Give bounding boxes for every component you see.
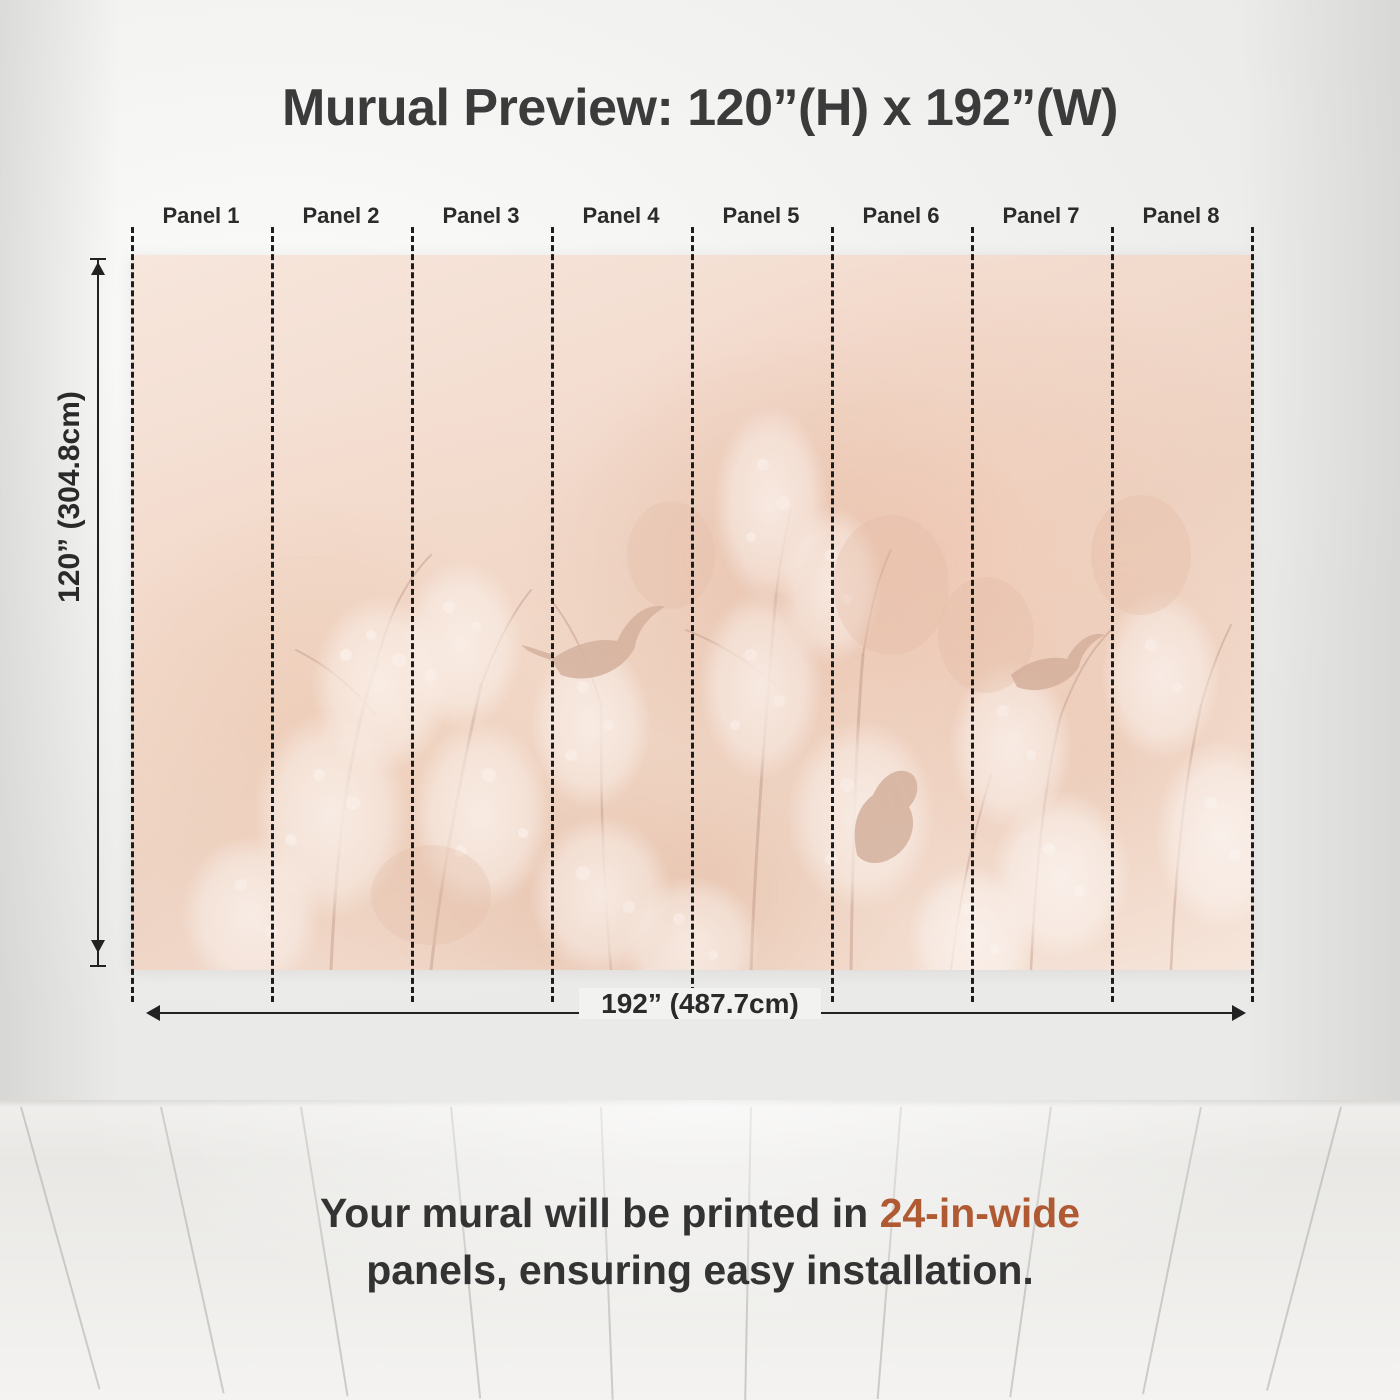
panel-label-8: Panel 8	[1111, 203, 1251, 229]
height-dimension-label: 120” (304.8cm)	[53, 367, 87, 627]
panel-divider-6	[971, 227, 974, 1002]
panel-label-3: Panel 3	[411, 203, 551, 229]
width-dimension-label: 192” (487.7cm)	[0, 988, 1400, 1020]
room-scene: Murual Preview: 120”(H) x 192”(W) 120” (…	[0, 0, 1400, 1400]
caption-line-2: panels, ensuring easy installation.	[0, 1242, 1400, 1299]
panel-label-7: Panel 7	[971, 203, 1111, 229]
panel-label-6: Panel 6	[831, 203, 971, 229]
caption-highlight: 24-in-wide	[880, 1190, 1080, 1236]
caption-line-1: Your mural will be printed in 24-in-wide	[0, 1185, 1400, 1242]
height-line	[97, 258, 99, 967]
panel-label-5: Panel 5	[691, 203, 831, 229]
height-arrow-up-icon	[91, 262, 105, 275]
panel-divider-2	[411, 227, 414, 1002]
height-arrow-down-icon	[91, 940, 105, 953]
width-dimension-text: 192” (487.7cm)	[579, 988, 821, 1019]
panel-label-1: Panel 1	[131, 203, 271, 229]
wall-shadow-right	[1240, 0, 1400, 1100]
panel-label-4: Panel 4	[551, 203, 691, 229]
height-dimension-arrow	[88, 250, 108, 975]
mural-preview[interactable]: Panel 1Panel 2Panel 3Panel 4Panel 5Panel…	[131, 255, 1251, 970]
footer-caption: Your mural will be printed in 24-in-wide…	[0, 1185, 1400, 1298]
panel-divider-0	[131, 227, 134, 1002]
panel-divider-7	[1111, 227, 1114, 1002]
panel-divider-4	[691, 227, 694, 1002]
panel-divider-5	[831, 227, 834, 1002]
caption-line-1-text: Your mural will be printed in	[320, 1190, 880, 1236]
panel-divider-1	[271, 227, 274, 1002]
panel-label-2: Panel 2	[271, 203, 411, 229]
panel-divider-8	[1251, 227, 1254, 1002]
page-title: Murual Preview: 120”(H) x 192”(W)	[0, 78, 1400, 138]
panel-divider-3	[551, 227, 554, 1002]
